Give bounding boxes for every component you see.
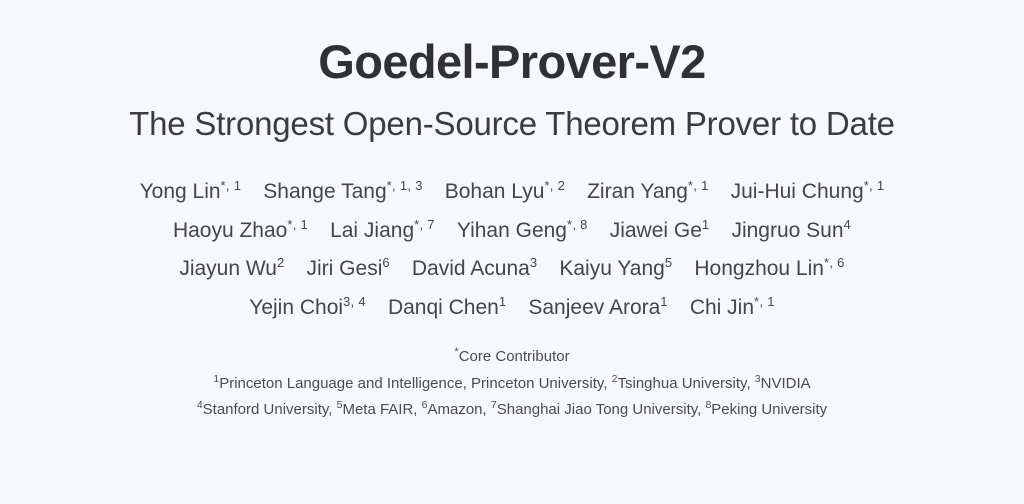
author-affiliation-marker: *, 1 xyxy=(688,178,709,193)
author-affiliation-marker: 1 xyxy=(499,294,507,309)
affiliation-line: 1Princeton Language and Intelligence, Pr… xyxy=(213,374,810,394)
author-list: Yong Lin*, 1 Shange Tang*, 1, 3 Bohan Ly… xyxy=(37,177,987,323)
author-affiliation-marker: 3, 4 xyxy=(343,294,366,309)
author-name: Jui-Hui Chung xyxy=(731,180,864,203)
affiliation-name: Meta FAIR, xyxy=(342,401,421,418)
affiliation-list: 1Princeton Language and Intelligence, Pr… xyxy=(197,374,827,421)
author-affiliation-marker: 4 xyxy=(844,217,852,232)
author-affiliation-marker: 1 xyxy=(660,294,668,309)
author-name: Jingruo Sun xyxy=(731,219,843,242)
author-affiliation-marker: *, 2 xyxy=(544,178,565,193)
author-affiliation-marker: *, 1 xyxy=(287,217,308,232)
affiliation-name: Tsinghua University, xyxy=(618,375,755,392)
author-entry: Jui-Hui Chung*, 1 xyxy=(731,177,885,207)
author-name: Kaiyu Yang xyxy=(559,257,664,280)
author-name: Danqi Chen xyxy=(388,296,499,319)
author-affiliation-marker: *, 6 xyxy=(824,255,845,270)
author-name: Hongzhou Lin xyxy=(694,257,824,280)
author-affiliation-marker: *, 1 xyxy=(864,178,885,193)
author-name: Haoyu Zhao xyxy=(173,219,287,242)
author-name: David Acuna xyxy=(412,257,530,280)
core-contributor-note: *Core Contributor xyxy=(454,348,569,365)
author-row: Jiayun Wu2 Jiri Gesi6 David Acuna3 Kaiyu… xyxy=(179,254,844,284)
author-entry: Shange Tang*, 1, 3 xyxy=(263,177,422,207)
author-affiliation-marker: 5 xyxy=(665,255,673,270)
page-title: Goedel-Prover-V2 xyxy=(318,36,705,88)
author-entry: Jingruo Sun4 xyxy=(731,216,851,246)
author-name: Jiayun Wu xyxy=(179,257,277,280)
author-entry: David Acuna3 xyxy=(412,254,537,284)
author-entry: Bohan Lyu*, 2 xyxy=(445,177,565,207)
author-name: Sanjeev Arora xyxy=(528,296,660,319)
author-name: Bohan Lyu xyxy=(445,180,545,203)
title-page: Goedel-Prover-V2 The Strongest Open-Sour… xyxy=(0,0,1024,504)
author-affiliation-marker: *, 8 xyxy=(567,217,588,232)
author-affiliation-marker: *, 7 xyxy=(414,217,435,232)
author-entry: Sanjeev Arora1 xyxy=(528,293,667,323)
author-entry: Yejin Choi3, 4 xyxy=(249,293,366,323)
core-contributor-label: Core Contributor xyxy=(459,348,570,365)
affiliation-name: Amazon, xyxy=(428,401,491,418)
author-name: Jiri Gesi xyxy=(307,257,383,280)
author-row: Yong Lin*, 1 Shange Tang*, 1, 3 Bohan Ly… xyxy=(140,177,885,207)
page-subtitle: The Strongest Open-Source Theorem Prover… xyxy=(129,104,895,144)
author-row: Yejin Choi3, 4 Danqi Chen1 Sanjeev Arora… xyxy=(249,293,775,323)
author-entry: Haoyu Zhao*, 1 xyxy=(173,216,308,246)
author-entry: Jiri Gesi6 xyxy=(307,254,390,284)
author-affiliation-marker: *, 1 xyxy=(221,178,242,193)
affiliation-name: Princeton Language and Intelligence, Pri… xyxy=(219,375,611,392)
affiliation-line: 4Stanford University, 5Meta FAIR, 6Amazo… xyxy=(197,400,827,420)
author-entry: Kaiyu Yang5 xyxy=(559,254,672,284)
author-entry: Jiawei Ge1 xyxy=(610,216,710,246)
author-row: Haoyu Zhao*, 1 Lai Jiang*, 7 Yihan Geng*… xyxy=(173,216,851,246)
author-name: Chi Jin xyxy=(690,296,754,319)
affiliation-name: NVIDIA xyxy=(761,375,811,392)
author-name: Yong Lin xyxy=(140,180,221,203)
author-affiliation-marker: 1 xyxy=(702,217,710,232)
author-affiliation-marker: *, 1 xyxy=(754,294,775,309)
author-entry: Yihan Geng*, 8 xyxy=(457,216,588,246)
author-affiliation-marker: 3 xyxy=(530,255,538,270)
author-name: Shange Tang xyxy=(263,180,386,203)
author-entry: Yong Lin*, 1 xyxy=(140,177,242,207)
affiliation-name: Shanghai Jiao Tong University, xyxy=(497,401,706,418)
author-entry: Ziran Yang*, 1 xyxy=(587,177,709,207)
author-name: Jiawei Ge xyxy=(610,219,702,242)
author-entry: Hongzhou Lin*, 6 xyxy=(694,254,844,284)
author-affiliation-marker: 6 xyxy=(382,255,390,270)
author-entry: Chi Jin*, 1 xyxy=(690,293,775,323)
author-affiliation-marker: *, 1, 3 xyxy=(387,178,423,193)
author-name: Yejin Choi xyxy=(249,296,343,319)
author-name: Ziran Yang xyxy=(587,180,688,203)
author-affiliation-marker: 2 xyxy=(277,255,285,270)
author-entry: Jiayun Wu2 xyxy=(179,254,284,284)
affiliation-name: Stanford University, xyxy=(203,401,337,418)
affiliation-name: Peking University xyxy=(711,401,827,418)
author-name: Lai Jiang xyxy=(330,219,414,242)
author-entry: Lai Jiang*, 7 xyxy=(330,216,435,246)
author-name: Yihan Geng xyxy=(457,219,567,242)
author-entry: Danqi Chen1 xyxy=(388,293,506,323)
